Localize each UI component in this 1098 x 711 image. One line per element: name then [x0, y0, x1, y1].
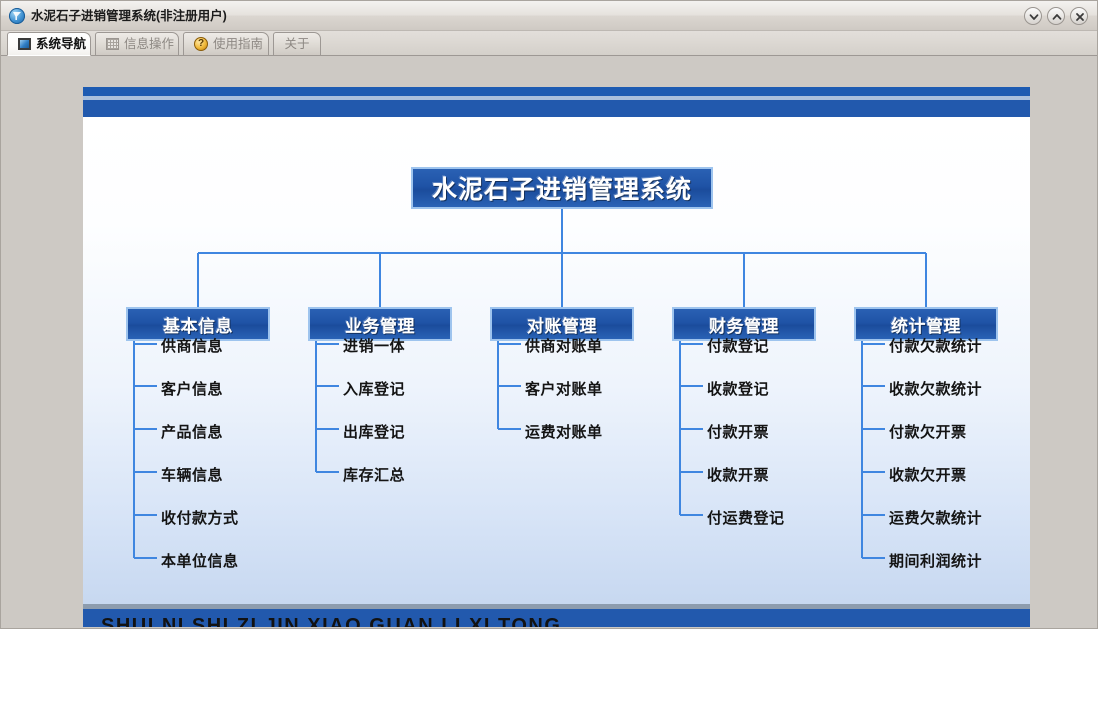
category-label: 对账管理 — [527, 312, 597, 337]
title-bar: 水泥石子进销管理系统(非注册用户) — [1, 1, 1097, 31]
leaf-item[interactable]: 收付款方式 — [161, 507, 239, 528]
tab-system-navigation[interactable]: 系统导航 — [7, 32, 91, 56]
leaf-item[interactable]: 运费欠款统计 — [889, 507, 982, 528]
leaf-item[interactable]: 运费对账单 — [525, 421, 603, 442]
leaf-item[interactable]: 收款开票 — [707, 464, 769, 485]
leaf-item[interactable]: 付款登记 — [707, 335, 769, 356]
category-label: 业务管理 — [345, 312, 415, 337]
leaf-item[interactable]: 车辆信息 — [161, 464, 223, 485]
leaf-item[interactable]: 供商信息 — [161, 335, 223, 356]
tab-user-guide[interactable]: 使用指南 — [183, 32, 269, 55]
org-chart-area: 水泥石子进销管理系统 基本信息 业务管理 对账管理 财务管理 统计管理 供商信息… — [83, 117, 1030, 604]
minimize-button[interactable] — [1024, 7, 1042, 25]
leaf-item[interactable]: 收款欠开票 — [889, 464, 967, 485]
tab-label: 使用指南 — [213, 38, 263, 51]
leaf-item[interactable]: 本单位信息 — [161, 550, 239, 571]
monitor-icon — [18, 38, 31, 50]
tab-strip: 系统导航 信息操作 使用指南 关于 — [1, 31, 1097, 56]
application-window: 水泥石子进销管理系统(非注册用户) 系统导航 信息操作 使用指南 — [0, 0, 1098, 629]
leaf-item[interactable]: 供商对账单 — [525, 335, 603, 356]
leaf-item[interactable]: 收款登记 — [707, 378, 769, 399]
restore-button[interactable] — [1047, 7, 1065, 25]
tab-label: 关于 — [284, 38, 309, 51]
leaf-item[interactable]: 付款欠款统计 — [889, 335, 982, 356]
leaf-item[interactable]: 入库登记 — [343, 378, 405, 399]
leaf-item[interactable]: 进销一体 — [343, 335, 405, 356]
leaf-item[interactable]: 客户信息 — [161, 378, 223, 399]
window-controls — [1024, 7, 1088, 25]
tab-label: 信息操作 — [124, 38, 174, 51]
leaf-item[interactable]: 付款开票 — [707, 421, 769, 442]
leaf-item[interactable]: 库存汇总 — [343, 464, 405, 485]
grid-icon — [106, 38, 119, 50]
leaf-item[interactable]: 付款欠开票 — [889, 421, 967, 442]
category-label: 统计管理 — [891, 312, 961, 337]
tab-about[interactable]: 关于 — [273, 32, 321, 55]
leaf-item[interactable]: 收款欠款统计 — [889, 378, 982, 399]
help-icon — [194, 37, 208, 51]
panel-top-accent-bar — [83, 87, 1030, 96]
leaf-item[interactable]: 期间利润统计 — [889, 550, 982, 571]
close-button[interactable] — [1070, 7, 1088, 25]
footer-pinyin-text: SHUI NI SHI ZI JIN XIAO GUAN LI XI TONG — [101, 615, 561, 627]
leaf-item[interactable]: 付运费登记 — [707, 507, 785, 528]
leaf-item[interactable]: 客户对账单 — [525, 378, 603, 399]
panel-footer-bar: SHUI NI SHI ZI JIN XIAO GUAN LI XI TONG — [83, 609, 1030, 627]
navigation-content-panel: 水泥石子进销管理系统 基本信息 业务管理 对账管理 财务管理 统计管理 供商信息… — [83, 87, 1030, 627]
tab-info-operations[interactable]: 信息操作 — [95, 32, 179, 55]
category-label: 财务管理 — [709, 312, 779, 337]
panel-header-bar — [83, 100, 1030, 117]
tab-label: 系统导航 — [36, 38, 86, 51]
leaf-item[interactable]: 产品信息 — [161, 421, 223, 442]
leaf-item[interactable]: 出库登记 — [343, 421, 405, 442]
category-label: 基本信息 — [163, 312, 233, 337]
chart-root-box[interactable]: 水泥石子进销管理系统 — [411, 167, 713, 209]
app-logo-icon — [9, 8, 25, 24]
chart-root-label: 水泥石子进销管理系统 — [432, 170, 692, 206]
window-title: 水泥石子进销管理系统(非注册用户) — [31, 1, 227, 31]
